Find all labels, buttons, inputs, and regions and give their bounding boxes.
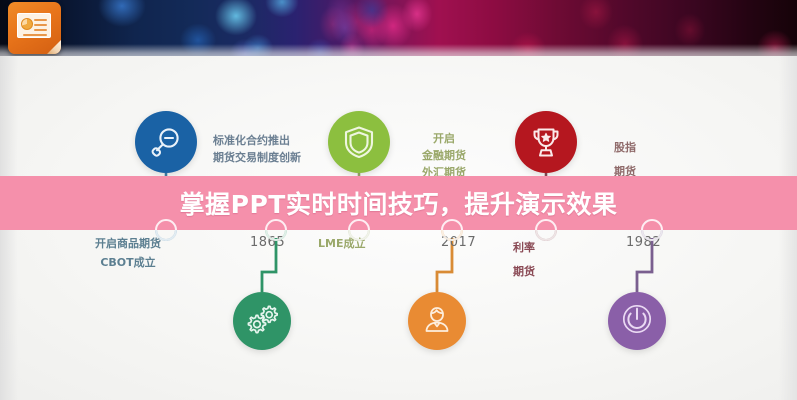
milestone-3-line1: 股指 [614,136,636,160]
bottom-milestone-5-line2: 期货 [513,260,535,284]
milestone-bubble-magnifier[interactable] [135,111,197,173]
bottom-milestone-5-label: 利率 期货 [513,236,535,284]
milestone-bubble-power[interactable] [608,292,666,350]
trophy-icon [529,125,563,159]
gears-icon [246,304,278,339]
timeline-node-overlay-6 [641,219,663,241]
bottom-milestone-1-line2: CBOT成立 [95,253,161,272]
milestone-bubble-gears[interactable] [233,292,291,350]
milestone-1-label: 标准化合约推出 期货交易制度创新 [213,132,301,166]
shield-icon [342,124,376,160]
timeline-node-overlay-4 [441,219,463,241]
timeline-node-overlay-1 [155,219,177,241]
bottom-milestone-1-label: 开启商品期货 CBOT成立 [95,234,161,273]
bottom-milestone-5-line1: 利率 [513,236,535,260]
milestone-1-line2: 期货交易制度创新 [213,149,301,166]
milestone-2-line2: 金融期货 [422,147,466,164]
timeline-node-overlay-2 [265,219,287,241]
milestone-1-line1: 标准化合约推出 [213,132,301,149]
milestone-2-label: 开启 金融期货 外汇期货 [422,130,466,181]
power-icon [620,302,654,341]
magnifier-icon [149,125,183,159]
user-icon [421,303,453,340]
title-banner: 掌握PPT实时时间技巧，提升演示效果 [0,176,797,230]
milestone-2-line1: 开启 [422,130,466,147]
banner-title-text: 掌握PPT实时时间技巧，提升演示效果 [180,185,618,221]
milestone-bubble-user[interactable] [408,292,466,350]
timeline-node-overlay-3 [348,219,370,241]
timeline-node-overlay-5 [535,219,557,241]
milestone-bubble-trophy[interactable] [515,111,577,173]
bottom-milestone-1-line1: 开启商品期货 [95,234,161,253]
milestone-bubble-shield[interactable] [328,111,390,173]
screenshot-root: 标准化合约推出 期货交易制度创新 开启 金融期货 外汇期货 股指 期货 开启商品… [0,0,797,400]
